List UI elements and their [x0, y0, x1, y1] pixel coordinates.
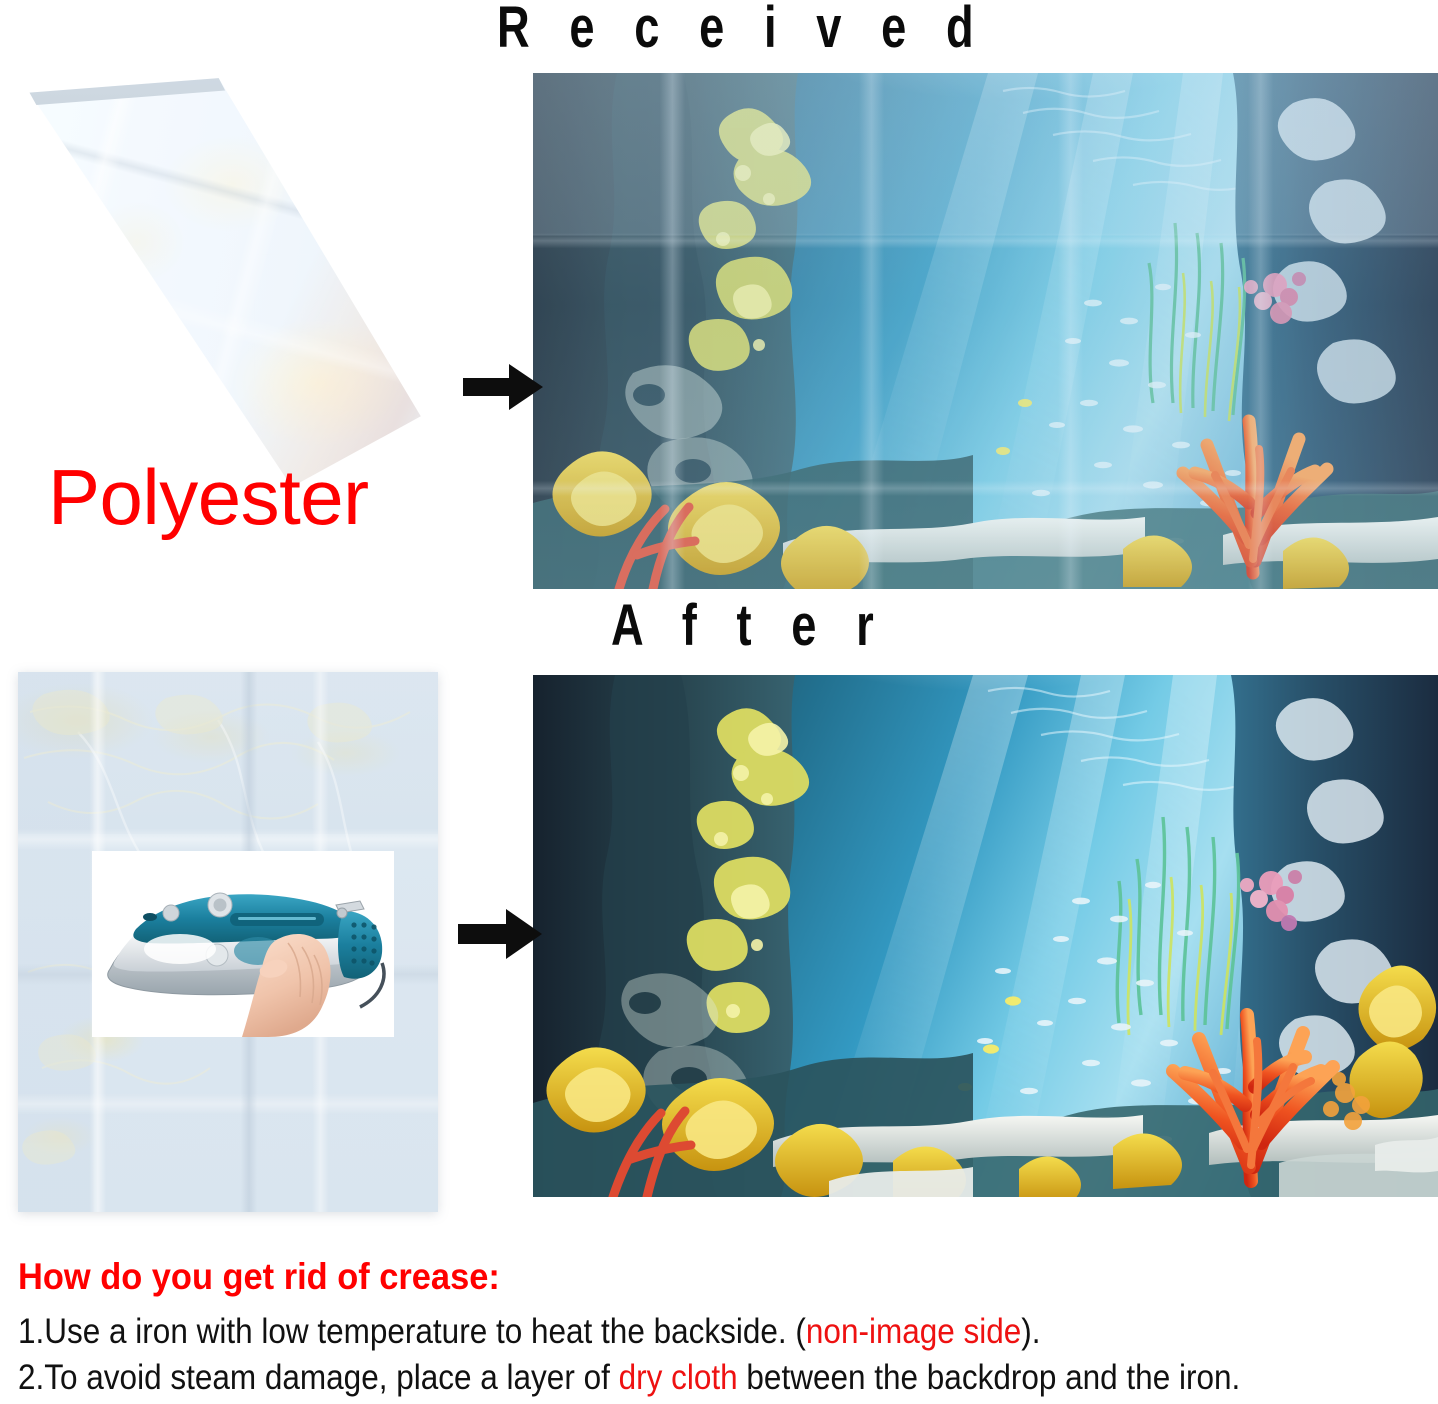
reef-image-received: [533, 73, 1438, 589]
right-arrow-icon: [456, 906, 544, 962]
instruction-line-2: 2.To avoid steam damage, place a layer o…: [18, 1358, 1287, 1398]
reef-artwork-after: [533, 675, 1438, 1197]
page-title-after: A f t e r: [611, 592, 887, 659]
iron-illustration: [92, 851, 394, 1037]
folded-fabric-photo: [8, 76, 438, 491]
instruction-line-1: 1.Use a iron with low temperature to hea…: [18, 1312, 1287, 1352]
instruction-line-2-part-2: between the backdrop and the iron.: [738, 1358, 1241, 1397]
instructions-heading: How do you get rid of crease:: [18, 1256, 1329, 1298]
polyester-label: Polyester: [48, 452, 369, 543]
instruction-line-2-highlight: dry cloth: [619, 1358, 738, 1397]
instruction-line-1-highlight: non-image side: [806, 1312, 1021, 1351]
page-title-received: R e c e i v e d: [497, 0, 987, 61]
instruction-line-1-part-2: ).: [1021, 1312, 1040, 1351]
fabric-crease-lines: [8, 76, 438, 491]
instructions-block: How do you get rid of crease: 1.Use a ir…: [18, 1256, 1428, 1404]
right-arrow-icon: [461, 361, 545, 413]
instruction-line-2-part-1: 2.To avoid steam damage, place a layer o…: [18, 1358, 619, 1397]
reef-artwork-received: [533, 73, 1438, 589]
reef-image-after: [533, 675, 1438, 1197]
instruction-line-1-part-1: 1.Use a iron with low temperature to hea…: [18, 1312, 806, 1351]
iron-photo: [92, 851, 394, 1037]
